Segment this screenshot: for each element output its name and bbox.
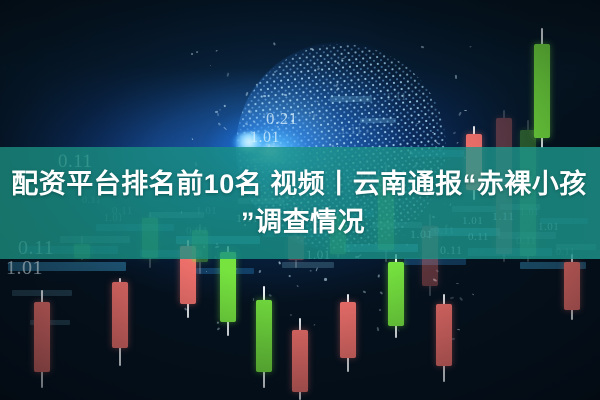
headline-band: 配资平台排名前10名 视频丨云南通报“赤裸小孩 ”调查情况 xyxy=(0,147,600,259)
news-thumbnail-banner: 0.110.211.011.110.111.010.111.011.110.11… xyxy=(0,0,600,400)
headline-container: 配资平台排名前10名 视频丨云南通报“赤裸小孩 ”调查情况 xyxy=(0,147,600,259)
headline-line-1: 配资平台排名前10名 视频丨云南通报“赤裸小孩 xyxy=(11,165,587,203)
headline-line-2: ”调查情况 xyxy=(241,203,365,241)
